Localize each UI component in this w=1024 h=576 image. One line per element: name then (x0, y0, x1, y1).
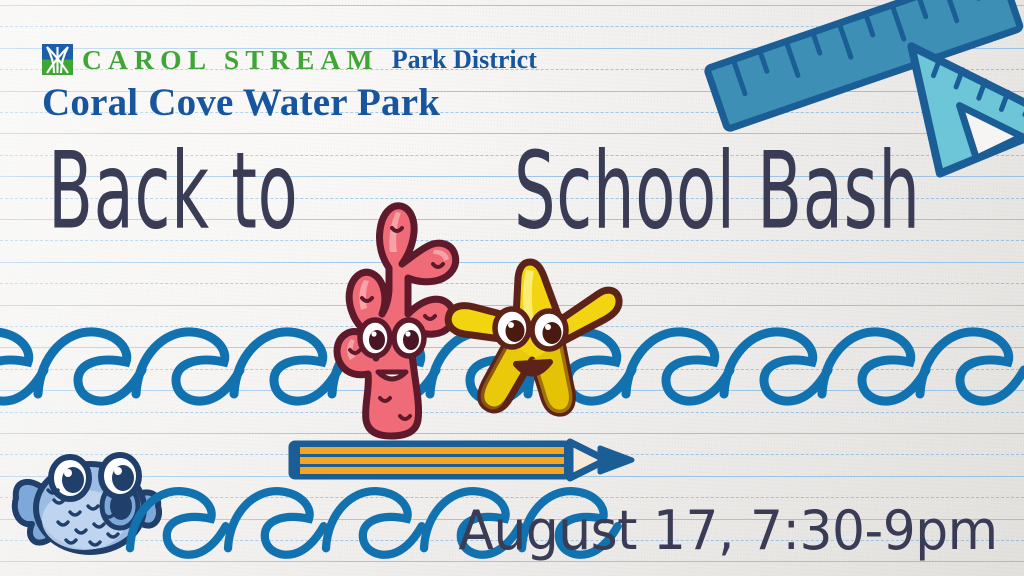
headline-block: Back to School Bash (40, 139, 984, 241)
headline-line-2: School Bash (514, 139, 921, 243)
rule-line-solid (0, 433, 1024, 434)
brand-logo-row: CAROL STREAM Park District (42, 44, 537, 75)
wave-stroke (822, 332, 926, 401)
wave-stroke (326, 491, 422, 555)
pencil-icon (288, 438, 638, 482)
header-block: CAROL STREAM Park District Coral Cove Wa… (42, 44, 537, 122)
wave-stroke (136, 332, 240, 401)
wave-stroke (228, 491, 324, 555)
wave-stroke (130, 491, 226, 555)
brand-name-secondary: Park District (392, 47, 537, 73)
wave-stroke (920, 332, 1024, 401)
brand-name-primary: CAROL STREAM (82, 46, 379, 74)
poster-canvas: CAROL STREAM Park District Coral Cove Wa… (0, 0, 1024, 576)
wave-stroke (724, 332, 828, 401)
wave-stroke (38, 332, 142, 401)
venue-name: Coral Cove Water Park (42, 83, 537, 122)
starfish-character (438, 252, 628, 432)
carol-stream-monogram-icon (42, 44, 73, 75)
wave-stroke (626, 332, 730, 401)
headline-line-1: Back to (48, 139, 298, 243)
event-date-time: August 17, 7:30-9pm (459, 499, 998, 562)
